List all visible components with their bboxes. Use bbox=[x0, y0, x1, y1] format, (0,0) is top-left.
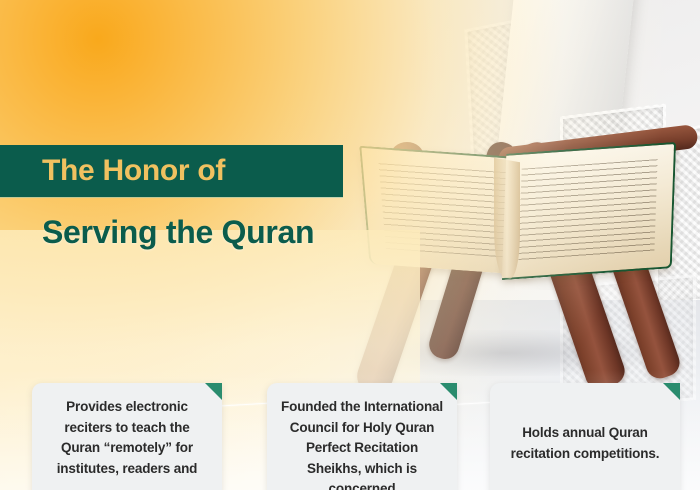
info-card-1-text: Provides electronic reciters to teach th… bbox=[44, 397, 210, 479]
info-card-2[interactable]: Founded the International Council for Ho… bbox=[267, 383, 457, 490]
info-card-2-text: Founded the International Council for Ho… bbox=[279, 397, 445, 490]
folded-corner-icon bbox=[205, 383, 222, 400]
page-title-line1: The Honor of bbox=[42, 154, 225, 188]
info-card-3-text: Holds annual Quran recitation competitio… bbox=[502, 397, 668, 464]
info-card-3[interactable]: Holds annual Quran recitation competitio… bbox=[490, 383, 680, 490]
slide-canvas: The Honor of Serving the Quran Provides … bbox=[0, 0, 700, 490]
info-card-1[interactable]: Provides electronic reciters to teach th… bbox=[32, 383, 222, 490]
folded-corner-icon bbox=[440, 383, 457, 400]
folded-corner-icon bbox=[663, 383, 680, 400]
title-banner: The Honor of bbox=[0, 145, 343, 197]
page-title-line2: Serving the Quran bbox=[42, 214, 314, 251]
